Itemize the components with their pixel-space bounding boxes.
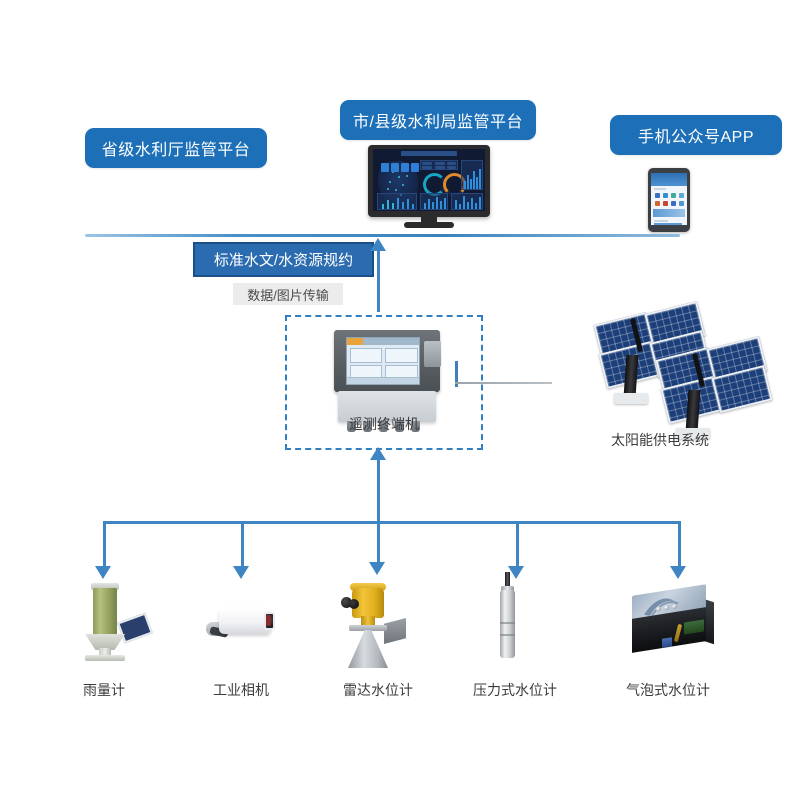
sensor-drop-line [103,521,106,569]
device-label-bubble: 气泡式水位计 [601,680,735,700]
solar-pole [686,390,701,432]
network-backbone-line [85,234,680,237]
device-label-text: 气泡式水位计 [626,682,710,698]
sensor-drop-line [516,521,519,569]
dashboard-bar-panel [461,160,483,190]
phone-banner-2 [653,209,685,217]
monitor-screen [373,149,485,211]
smartphone-icon [648,168,690,234]
arrow-up-icon [370,238,386,251]
sensor-bus-line [103,521,680,524]
uplink-line [377,246,380,312]
antenna-whip-icon [455,382,552,384]
sensor-uplink-line [377,456,380,524]
platform-app-label: 手机公众号APP [638,123,754,147]
solar-pole-base [614,393,648,404]
phone-hero-banner [651,173,687,186]
sensor-drop-line [241,521,244,569]
device-label-camera: 工业相机 [181,680,301,700]
device-label-text: 雨量计 [83,682,125,698]
phone-screen [651,173,687,225]
protocol-badge: 标准水文/水资源规约 [193,242,374,277]
arrow-up-icon [370,447,386,460]
arrow-down-icon [508,566,524,579]
arrow-down-icon [670,566,686,579]
solar-pole [624,355,639,397]
device-label-text: 雷达水位计 [343,682,413,698]
device-label-radar: 雷达水位计 [318,680,438,700]
monitor-stand-base [404,222,454,228]
platform-province-label: 省级水利厅监管平台 [102,136,251,160]
rtu-screen-footer [347,377,419,384]
rain-gauge-solar-panel [117,613,153,644]
rtu-screen [346,337,420,385]
rtu-connector [424,341,441,367]
arrow-down-icon [233,566,249,579]
protocol-sub-label: 数据/图片传输 [247,285,329,304]
monitor-icon [368,145,490,230]
platform-city-button[interactable]: 市/县级水利局监管平台 [340,100,536,140]
device-label-text: 工业相机 [213,682,269,698]
sensor-drop-line [377,521,380,565]
device-label-pressure: 压力式水位计 [448,680,582,700]
platform-app-button[interactable]: 手机公众号APP [610,115,782,155]
solar-power-label: 太阳能供电系统 [588,430,732,450]
rtu-screen-header [347,338,419,345]
protocol-badge-label: 标准水文/水资源规约 [214,249,353,270]
arrow-down-icon [95,566,111,579]
platform-province-button[interactable]: 省级水利厅监管平台 [85,128,267,168]
platform-city-label: 市/县级水利局监管平台 [353,108,523,132]
solar-power-label-text: 太阳能供电系统 [611,432,709,448]
device-label-text: 压力式水位计 [473,682,557,698]
architecture-diagram: 省级水利厅监管平台 市/县级水利局监管平台 手机公众号APP [0,0,800,800]
protocol-sub-badge: 数据/图片传输 [233,283,343,305]
dashboard-title-bar [401,151,457,156]
rtu-label: 遥测终端机 [285,414,483,434]
sensor-drop-line [678,521,681,569]
device-label-rain-gauge: 雨量计 [44,680,164,700]
rtu-label-text: 遥测终端机 [349,416,419,432]
arrow-down-icon [369,562,385,575]
